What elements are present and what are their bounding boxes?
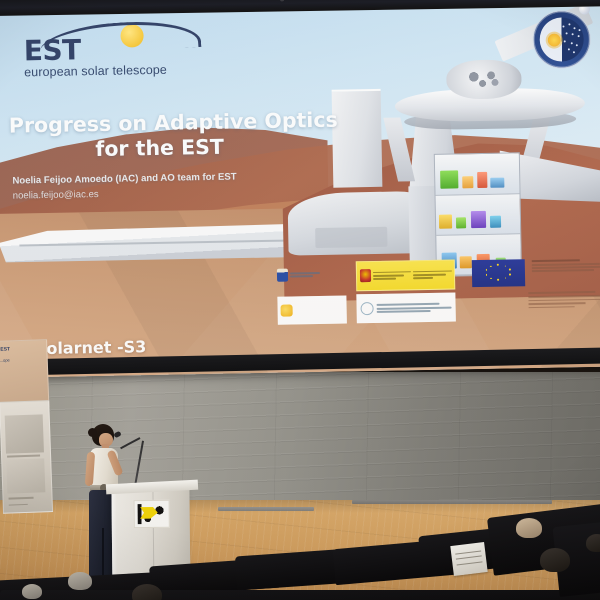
audience-head [516,518,542,538]
banner-body [0,400,53,514]
gobierno-canarias-text-lines [290,271,323,277]
ministry-text-lines-2 [413,270,451,278]
union-europea-label [531,258,600,273]
projection-screen: EST european solar telescope [0,0,600,378]
handout-sheet [450,542,487,576]
funding-logo-strip [277,255,600,343]
render-floor-2 [435,194,520,236]
seat-row-front [0,590,600,600]
spain-coat-of-arms-icon [360,269,371,282]
audience-head [540,548,570,572]
consejeria-logo [529,291,600,310]
banner-subtitle: ...ope [0,357,10,362]
partner-icon [280,305,292,317]
est-telescope-render [319,36,600,287]
audience-head [22,584,42,599]
union-europea-flag-icon [472,259,525,287]
est-logo-mark: EST [23,22,217,68]
gobierno-de-espana-logo [356,260,456,291]
slide-footer-label: Solarnet -S3 [35,337,147,358]
banner-image-top [5,415,45,454]
audience-head [586,534,600,552]
audience-head [68,572,92,590]
speaker-hair-bun [88,428,97,437]
canarias-swirl-icon [361,302,374,315]
ministry-text-lines [373,271,411,279]
building-ridge-line [20,240,293,246]
banner-image-bottom [6,459,45,493]
canarias-shield-icon [277,268,288,281]
title-slide: EST european solar telescope [0,0,600,378]
eu-stars-icon [481,264,515,282]
slide-title: Progress on Adaptive Optics for the EST [9,107,359,163]
audience-head [132,584,162,600]
canarias-text-lines [377,303,452,313]
audience-seating [0,504,600,600]
banner-header: EST ...ope [0,339,49,409]
canarias-avanza-con-europa-logo [357,292,457,323]
small-partner-logo [277,296,347,325]
iac-seal-ring [533,11,590,68]
roll-up-banner: EST ...ope [0,339,53,511]
conference-photo-scene: EST european solar telescope [0,0,600,600]
est-acronym: EST [23,34,81,68]
est-logo: EST european solar telescope [23,22,217,80]
render-floor-1 [434,154,519,196]
banner-est-logo: EST [0,347,10,353]
render-telescope-mount [446,59,521,100]
gobierno-de-canarias-logo [277,260,324,289]
